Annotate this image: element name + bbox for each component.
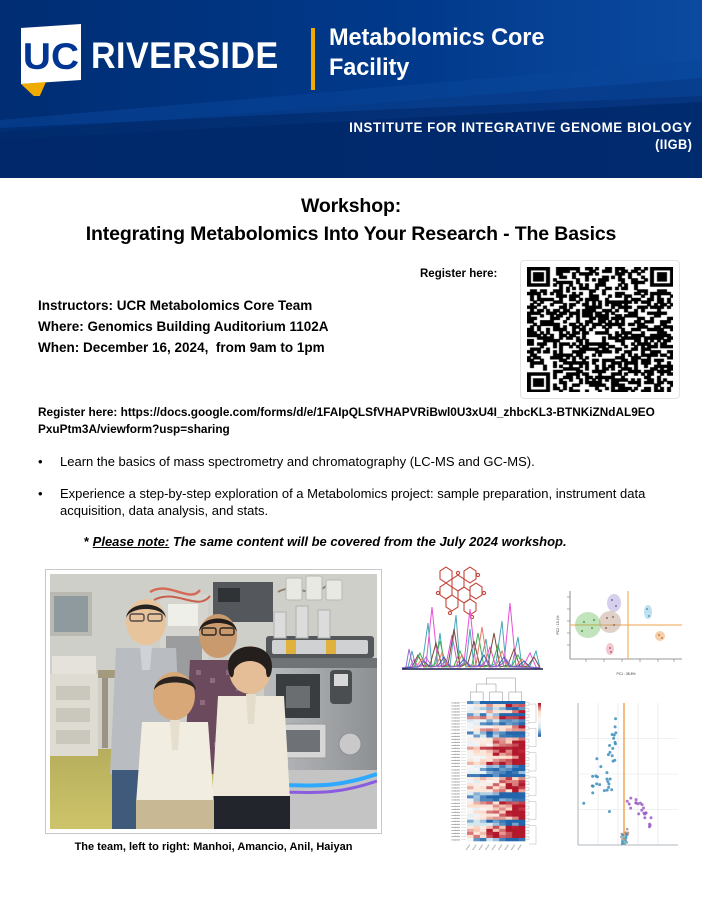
svg-text:metabolite: metabolite <box>451 830 460 833</box>
svg-text:metabolite: metabolite <box>451 756 460 759</box>
svg-text:metabolite: metabolite <box>451 772 460 775</box>
svg-text:metabolite: metabolite <box>451 814 460 817</box>
pca-xlabel: PC1 : 38.8% <box>616 672 635 676</box>
svg-text:metabolite: metabolite <box>451 787 460 790</box>
qr-code[interactable] <box>520 260 680 399</box>
svg-text:metabolite: metabolite <box>451 790 460 793</box>
svg-text:metabolite: metabolite <box>451 796 460 799</box>
svg-text:sample: sample <box>466 844 472 851</box>
svg-text:metabolite: metabolite <box>451 766 460 769</box>
svg-text:metabolite: metabolite <box>451 717 460 720</box>
page-title: Workshop: Integrating Metabolomics Into … <box>0 193 702 248</box>
volcano-chart <box>560 693 690 861</box>
bullet-text: Learn the basics of mass spectrometry an… <box>60 454 535 469</box>
svg-text:metabolite: metabolite <box>451 705 460 708</box>
ucr-logo: UC RIVERSIDE Metabolomics Core Facility <box>18 22 553 96</box>
svg-text:metabolite: metabolite <box>451 817 460 820</box>
detail-when: When: December 16, 2024, from 9am to 1pm <box>38 338 329 359</box>
svg-text:metabolite: metabolite <box>451 747 460 750</box>
photo-caption: The team, left to right: Manhoi, Amancio… <box>45 841 382 853</box>
svg-text:sample: sample <box>511 844 517 851</box>
register-here-label: Register here: <box>420 268 497 280</box>
svg-text:metabolite: metabolite <box>451 781 460 784</box>
pca-ylabel: PC2 : 15.1% <box>556 616 560 635</box>
svg-text:metabolite: metabolite <box>451 702 460 705</box>
university-wordmark: RIVERSIDE <box>91 37 279 74</box>
svg-text:sample: sample <box>479 844 485 851</box>
list-item: • Experience a step-by-step exploration … <box>0 485 702 521</box>
heatmap-chart: metabolitemetabolitemetabolitemetabolite… <box>425 675 560 860</box>
svg-text:metabolite: metabolite <box>451 775 460 778</box>
institute-name: INSTITUTE FOR INTEGRATIVE GENOME BIOLOGY <box>349 119 692 135</box>
svg-text:metabolite: metabolite <box>451 723 460 726</box>
uc-shield-icon: UC <box>18 22 84 96</box>
page-header: UC RIVERSIDE Metabolomics Core Facility … <box>0 0 702 178</box>
svg-text:metabolite: metabolite <box>451 753 460 756</box>
team-photo <box>45 569 382 834</box>
unit-title: Metabolomics Core Facility <box>329 23 544 83</box>
svg-text:metabolite: metabolite <box>451 763 460 766</box>
chromatogram-chart <box>400 563 545 678</box>
svg-text:metabolite: metabolite <box>451 732 460 735</box>
svg-text:metabolite: metabolite <box>451 738 460 741</box>
gold-divider <box>311 28 315 90</box>
svg-text:metabolite: metabolite <box>451 799 460 802</box>
qr-code-image <box>527 267 673 392</box>
svg-text:metabolite: metabolite <box>451 769 460 772</box>
svg-text:metabolite: metabolite <box>451 793 460 796</box>
list-item: • Learn the basics of mass spectrometry … <box>0 453 702 471</box>
note-emphasis: Please note: <box>93 534 170 549</box>
institute-acronym: (IIGB) <box>349 137 692 154</box>
bullet-icon: • <box>38 453 43 471</box>
svg-text:sample: sample <box>472 844 478 851</box>
svg-text:metabolite: metabolite <box>451 750 460 753</box>
svg-text:metabolite: metabolite <box>451 823 460 826</box>
svg-text:metabolite: metabolite <box>451 808 460 811</box>
svg-text:UC: UC <box>23 37 79 78</box>
bullet-text: Experience a step-by-step exploration of… <box>60 486 645 519</box>
svg-text:metabolite: metabolite <box>451 820 460 823</box>
figures-area: The team, left to right: Manhoi, Amancio… <box>0 563 702 863</box>
svg-text:sample: sample <box>498 844 504 851</box>
pca-figure: PC1 : 38.8% PC2 : 15.1% <box>548 585 688 680</box>
workshop-details: Instructors: UCR Metabolomics Core Team … <box>38 296 329 359</box>
bullet-list: • Learn the basics of mass spectrometry … <box>0 453 702 521</box>
svg-text:metabolite: metabolite <box>451 760 460 763</box>
svg-text:metabolite: metabolite <box>451 811 460 814</box>
svg-text:sample: sample <box>491 844 497 851</box>
svg-text:metabolite: metabolite <box>451 833 460 836</box>
svg-text:metabolite: metabolite <box>451 711 460 714</box>
info-row: Register here: Instructors: UCR Metabolo… <box>0 260 702 400</box>
institute-line: INSTITUTE FOR INTEGRATIVE GENOME BIOLOGY… <box>349 119 692 153</box>
detail-instructors: Instructors: UCR Metabolomics Core Team <box>38 296 329 317</box>
svg-text:metabolite: metabolite <box>451 726 460 729</box>
note-star: * <box>84 534 93 549</box>
svg-text:metabolite: metabolite <box>451 720 460 723</box>
svg-text:metabolite: metabolite <box>451 778 460 781</box>
svg-text:metabolite: metabolite <box>451 784 460 787</box>
svg-text:sample: sample <box>517 844 523 851</box>
pca-chart: PC1 : 38.8% PC2 : 15.1% <box>548 585 688 680</box>
chromatogram-figure <box>400 563 545 678</box>
svg-text:metabolite: metabolite <box>451 805 460 808</box>
svg-text:metabolite: metabolite <box>451 826 460 829</box>
team-photo-image <box>50 574 377 829</box>
svg-text:sample: sample <box>485 844 491 851</box>
svg-text:metabolite: metabolite <box>451 744 460 747</box>
svg-text:metabolite: metabolite <box>451 741 460 744</box>
detail-where: Where: Genomics Building Auditorium 1102… <box>38 317 329 338</box>
bullet-icon: • <box>38 485 43 503</box>
svg-text:sample: sample <box>504 844 510 851</box>
svg-text:metabolite: metabolite <box>451 735 460 738</box>
svg-text:metabolite: metabolite <box>451 802 460 805</box>
svg-text:metabolite: metabolite <box>451 839 460 842</box>
svg-text:metabolite: metabolite <box>451 708 460 711</box>
page-content: Workshop: Integrating Metabolomics Into … <box>0 193 702 863</box>
svg-text:metabolite: metabolite <box>451 729 460 732</box>
svg-text:metabolite: metabolite <box>451 836 460 839</box>
heatmap-figure: metabolitemetabolitemetabolitemetabolite… <box>425 675 560 860</box>
volcano-figure <box>560 693 690 861</box>
please-note: * Please note: The same content will be … <box>84 534 702 549</box>
registration-url[interactable]: Register here: https://docs.google.com/f… <box>38 404 656 438</box>
note-text: The same content will be covered from th… <box>169 534 566 549</box>
svg-text:metabolite: metabolite <box>451 714 460 717</box>
